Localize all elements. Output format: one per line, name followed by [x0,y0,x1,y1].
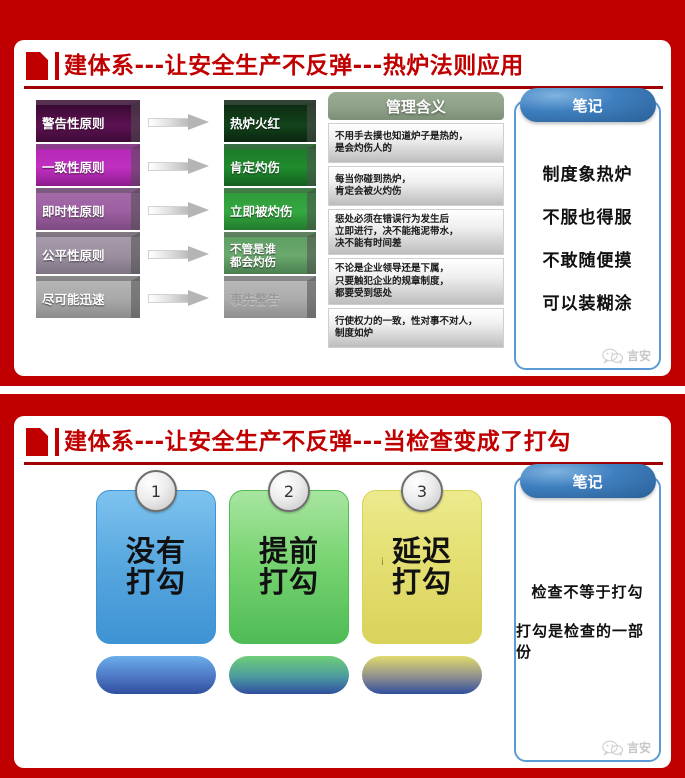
management-meaning-panel: 管理含义 不用手去摸也知道炉子是热的，是会灼伤人的 每当你碰到热炉，肯定会被火灼… [328,92,504,348]
slide-1-title: 建体系---让安全生产不反弹---热炉法则应用 [64,50,524,82]
card-late-check[interactable]: i 延迟 打勾 [362,490,482,644]
notes-panel-1: 笔记 制度象热炉 不服也得服 不敢随便摸 可以装糊涂 [514,100,661,370]
slide-2: 建体系---让安全生产不反弹---当检查变成了打勾 1 没有 打勾 [0,394,685,778]
principle-label: 即时性原则 [36,205,131,218]
meaning-row: 每当你碰到热炉，肯定会被火灼伤 [328,166,504,206]
title-divider-bar [55,52,59,80]
card-reflection [362,656,482,694]
slide-2-title: 建体系---让安全生产不反弹---当检查变成了打勾 [64,426,571,458]
note-line: 不敢随便摸 [543,246,633,271]
watermark-text: 言安 [627,739,651,756]
principle-block-4: 公平性原则 [36,232,140,274]
title-divider-bar [55,428,59,456]
wechat-logo-icon [602,740,624,756]
stove-effect-block-2: 肯定灼伤 [224,144,316,186]
card-label-line1: 提前 [259,536,319,567]
slide-2-title-row: 建体系---让安全生产不反弹---当检查变成了打勾 [26,426,661,460]
notes-body: 制度象热炉 不服也得服 不敢随便摸 可以装糊涂 [516,132,659,342]
management-meaning-header: 管理含义 [328,92,504,120]
watermark: 言安 [602,347,651,364]
meaning-row: 不用手去摸也知道炉子是热的，是会灼伤人的 [328,123,504,163]
notes-panel-2: 笔记 检查不等于打勾 打勾是检查的一部份 [514,476,661,762]
stove-effect-label: 热炉火红 [224,117,307,130]
principles-column: 警告性原则 一致性原则 即时性原则 公平性原则 尽可能迅速 [36,100,140,320]
meaning-text: 每当你碰到热炉，肯定会被火灼伤 [335,174,411,198]
notes-body: 检查不等于打勾 打勾是检查的一部份 [516,508,659,734]
slide-1: 建体系---让安全生产不反弹---热炉法则应用 警告性原则 一致性原则 即时性原… [0,0,685,386]
notes-caption: 笔记 [520,464,656,498]
meaning-text: 不用手去摸也知道炉子是热的，是会灼伤人的 [335,131,468,155]
card-reflection [96,656,216,694]
stove-effect-label: 事先警告 [224,293,307,306]
meaning-row: 不论是企业领导还是下属，只要触犯企业的规章制度，都要受到惩处 [328,258,504,304]
stove-effect-block-4: 不管是谁都会灼伤 [224,232,316,274]
watermark-text: 言安 [627,347,651,364]
watermark: 言安 [602,739,651,756]
principle-label: 公平性原则 [36,249,131,262]
card-no-check[interactable]: 没有 打勾 [96,490,216,644]
stove-effect-label: 不管是谁都会灼伤 [224,243,307,267]
slide-2-body: 1 没有 打勾 2 提前 [14,468,671,768]
slide-1-body: 警告性原则 一致性原则 即时性原则 公平性原则 尽可能迅速 [14,92,671,376]
principle-label: 警告性原则 [36,117,131,130]
slide-1-content: 建体系---让安全生产不反弹---热炉法则应用 警告性原则 一致性原则 即时性原… [14,40,671,376]
card-label-line2: 打勾 [126,567,186,598]
stove-effect-block-3: 立即被灼伤 [224,188,316,230]
principle-block-1: 警告性原则 [36,100,140,142]
note-line: 可以装糊涂 [543,289,633,314]
principle-block-5: 尽可能迅速 [36,276,140,318]
note-line: 打勾是检查的一部份 [516,620,659,662]
card-label-line1: 没有 [126,536,186,567]
notes-caption: 笔记 [520,88,656,122]
ghost-marker: i [381,557,384,568]
stove-effect-block-5: 事先警告 [224,276,316,318]
card-label: 提前 打勾 [259,536,319,597]
meaning-row: 行使权力的一致，性对事不对人，制度如炉 [328,308,504,348]
meaning-text: 不论是企业领导还是下属，只要触犯企业的规章制度，都要受到惩处 [335,263,449,299]
slide-2-content: 建体系---让安全生产不反弹---当检查变成了打勾 1 没有 打勾 [14,416,671,768]
arrow-right-icon [148,291,210,306]
note-line: 检查不等于打勾 [531,581,643,602]
page-flag-icon [26,52,48,80]
card-reflection [229,656,349,694]
meaning-text: 惩处必须在错误行为发生后立即进行，决不能拖泥带水，决不能有时间差 [335,214,459,250]
arrow-right-icon [148,159,210,174]
card-column-1: 1 没有 打勾 [96,482,216,694]
card-column-2: 2 提前 打勾 [229,482,349,694]
page-flag-icon [26,428,48,456]
note-line: 制度象热炉 [543,160,633,185]
card-label-line2: 打勾 [392,567,452,598]
arrow-right-icon [148,247,210,262]
card-label-line2: 打勾 [259,567,319,598]
card-number-badge: 3 [401,470,443,512]
slide-1-title-row: 建体系---让安全生产不反弹---热炉法则应用 [26,50,661,84]
meaning-text: 行使权力的一致，性对事不对人，制度如炉 [335,316,478,340]
card-number-badge: 2 [268,470,310,512]
arrow-right-icon [148,115,210,130]
card-label-line1: 延迟 [392,536,452,567]
card-early-check[interactable]: 提前 打勾 [229,490,349,644]
principle-block-3: 即时性原则 [36,188,140,230]
arrow-right-icon [148,203,210,218]
principle-block-2: 一致性原则 [36,144,140,186]
note-line: 不服也得服 [543,203,633,228]
card-label: 没有 打勾 [126,536,186,597]
stove-effect-block-1: 热炉火红 [224,100,316,142]
card-number-badge: 1 [135,470,177,512]
stove-effects-column: 热炉火红 肯定灼伤 立即被灼伤 不管是谁都会灼伤 事先警告 [224,100,316,320]
presentation-page: 建体系---让安全生产不反弹---热炉法则应用 警告性原则 一致性原则 即时性原… [0,0,685,778]
meaning-row: 惩处必须在错误行为发生后立即进行，决不能拖泥带水，决不能有时间差 [328,209,504,255]
principle-label: 一致性原则 [36,161,131,174]
card-label: 延迟 打勾 [392,536,452,597]
stove-effect-label: 立即被灼伤 [224,205,307,218]
principle-label: 尽可能迅速 [36,293,131,306]
wechat-logo-icon [602,348,624,364]
card-column-3: 3 i 延迟 打勾 [362,482,482,694]
stove-effect-label: 肯定灼伤 [224,161,307,174]
arrow-column [148,100,218,320]
